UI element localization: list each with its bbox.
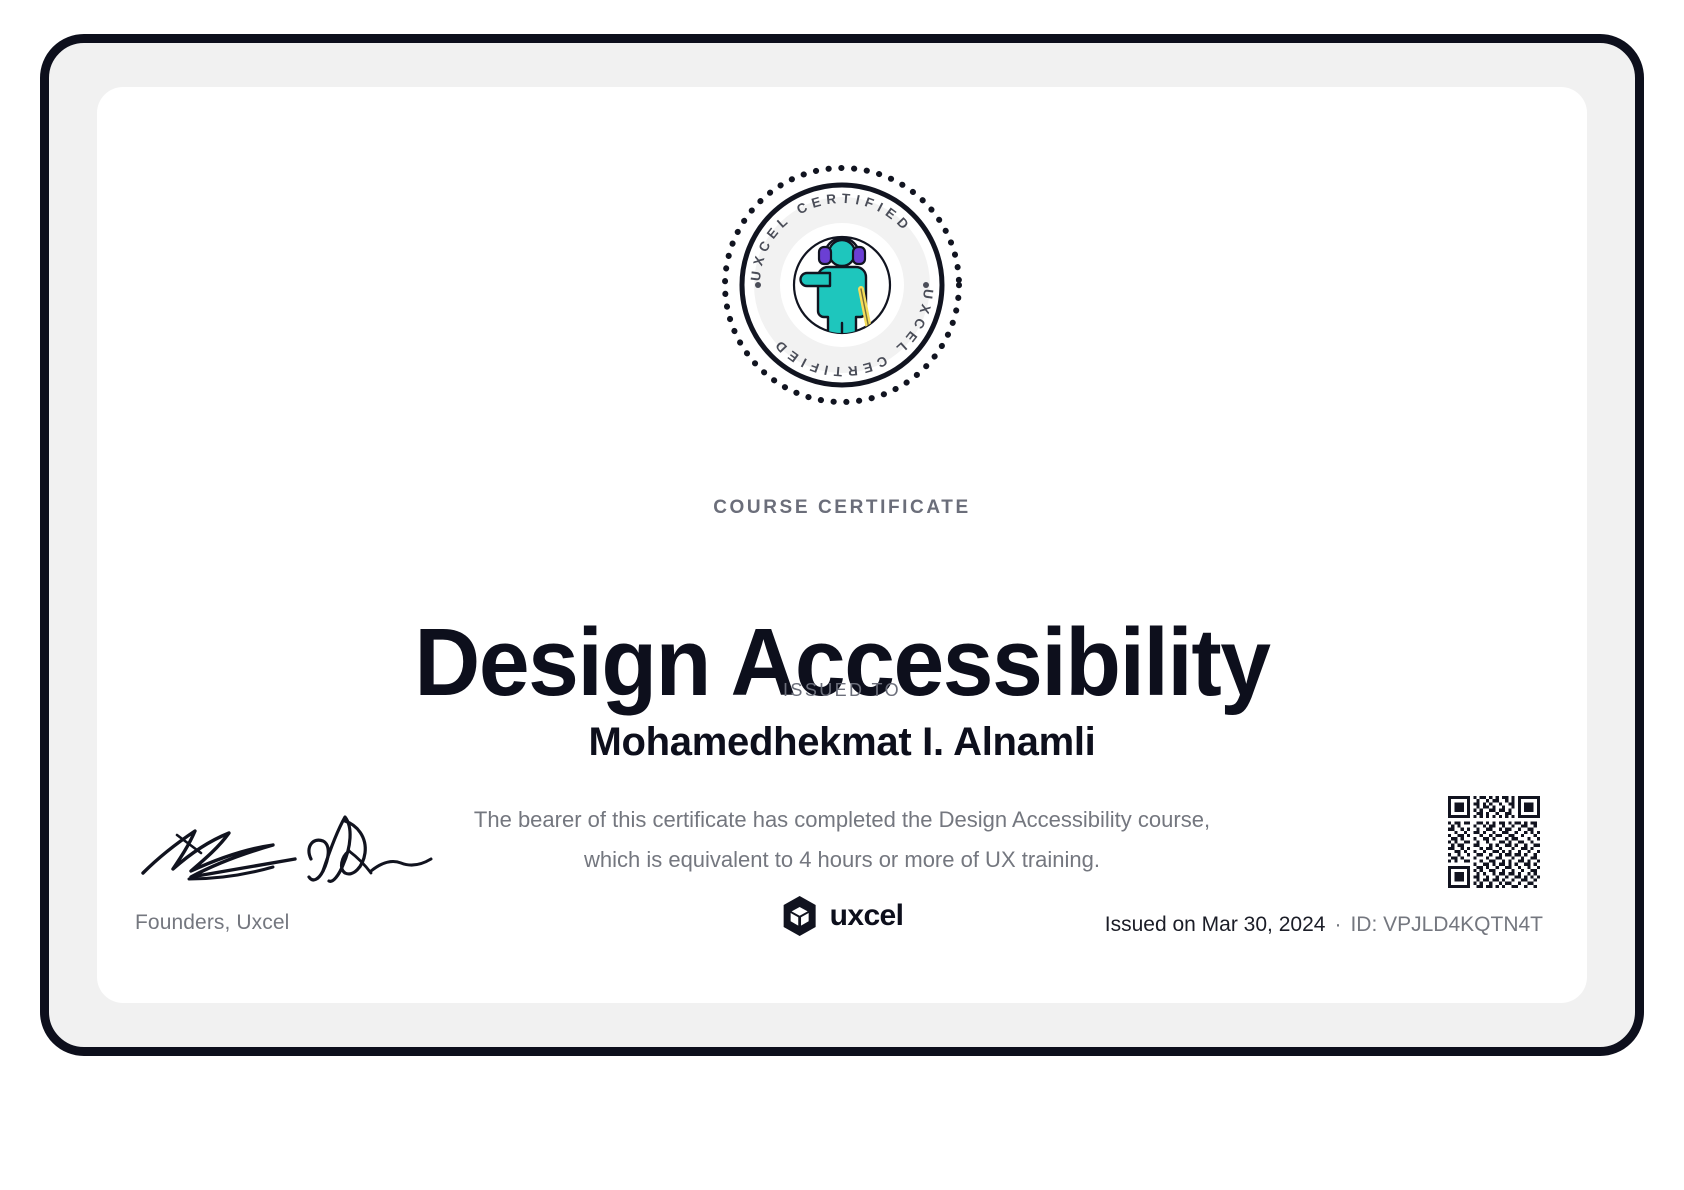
certificate-eyebrow: COURSE CERTIFICATE bbox=[97, 497, 1587, 519]
uxcel-wordmark: uxcel bbox=[830, 899, 904, 933]
certificate-verification-qr-code[interactable] bbox=[1448, 796, 1540, 888]
uxcel-brand-logo: uxcel bbox=[781, 895, 904, 937]
seal-bullet-left bbox=[755, 282, 761, 288]
uxcel-hexagon-cube-icon bbox=[781, 895, 819, 937]
qr-code-graphic[interactable] bbox=[1448, 796, 1540, 888]
seal-graphic: UXCEL CERTIFIED UXCEL CERTIFIED bbox=[720, 163, 964, 407]
recipient-name: Mohamedhekmat I. Alnamli bbox=[97, 720, 1587, 765]
issued-on-date: Issued on Mar 30, 2024 bbox=[1105, 913, 1326, 936]
certificate-frame: UXCEL CERTIFIED UXCEL CERTIFIED bbox=[40, 34, 1644, 1056]
issued-to-label: ISSUED TO bbox=[97, 680, 1587, 701]
founder-signatures bbox=[133, 801, 463, 891]
certificate-card: UXCEL CERTIFIED UXCEL CERTIFIED bbox=[97, 87, 1587, 1003]
meta-separator: · bbox=[1325, 913, 1350, 936]
seal-bullet-right bbox=[923, 282, 929, 288]
signature-graphic bbox=[133, 801, 463, 891]
founders-label: Founders, Uxcel bbox=[135, 911, 289, 935]
uxcel-certified-seal: UXCEL CERTIFIED UXCEL CERTIFIED bbox=[720, 163, 964, 407]
issue-metadata: Issued on Mar 30, 2024·ID: VPJLD4KQTN4T bbox=[1105, 913, 1543, 937]
certificate-id: ID: VPJLD4KQTN4T bbox=[1350, 913, 1543, 936]
